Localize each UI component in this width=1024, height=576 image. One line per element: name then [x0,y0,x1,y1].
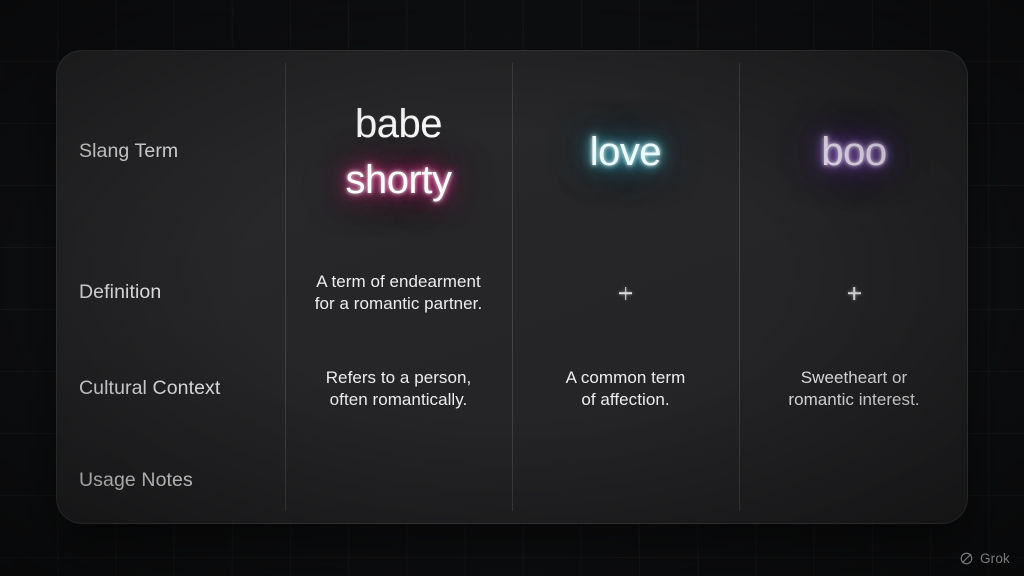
cultural-context-line-1: A common term [566,368,686,387]
cultural-context-cell-column-2: A common term of affection. [512,341,739,437]
definition-line-1: A term of endearment [316,272,480,291]
term-shorty: shorty [346,159,452,201]
row-label-cultural-context: Cultural Context [57,341,285,437]
row-label-usage-notes: Usage Notes [57,437,285,524]
screen-canvas: Slang Term babe shorty love boo Definiti… [0,0,1024,576]
definition-cell-column-3 [739,245,968,341]
cultural-context-text-column-3: Sweetheart or romantic interest. [788,367,919,411]
definition-line-2: for a romantic partner. [315,294,482,313]
usage-notes-cell-column-1 [285,437,512,524]
cultural-context-line-2: of affection. [581,390,669,409]
cultural-context-text-column-2: A common term of affection. [566,367,686,411]
cultural-context-line-2: romantic interest. [788,390,919,409]
cultural-context-line-2: often romantically. [330,390,468,409]
grok-watermark-label: Grok [980,551,1010,566]
usage-notes-cell-column-2 [512,437,739,524]
term-love: love [590,131,661,173]
term-cell-column-3: boo [739,59,968,245]
cultural-context-line-1: Refers to a person, [326,368,472,387]
grok-watermark: Grok [959,551,1010,566]
comparison-card: Slang Term babe shorty love boo Definiti… [56,50,968,524]
cultural-context-cell-column-1: Refers to a person, often romantically. [285,341,512,437]
plus-marker-icon [618,286,633,301]
grok-slashed-circle-icon [959,551,974,566]
plus-marker-icon [847,286,862,301]
cultural-context-cell-column-3: Sweetheart or romantic interest. [739,341,968,437]
cultural-context-text-column-1: Refers to a person, often romantically. [326,367,472,411]
row-label-slang-term: Slang Term [57,59,285,245]
term-cell-column-1: babe shorty [285,59,512,245]
term-cell-column-2: love [512,59,739,245]
definition-cell-column-2 [512,245,739,341]
row-label-definition: Definition [57,245,285,341]
slang-comparison-table: Slang Term babe shorty love boo Definiti… [57,51,967,523]
definition-cell-column-1: A term of endearment for a romantic part… [285,245,512,341]
term-boo: boo [821,131,886,173]
term-babe: babe [355,103,442,145]
definition-text-column-1: A term of endearment for a romantic part… [315,271,482,315]
cultural-context-line-1: Sweetheart or [801,368,908,387]
usage-notes-cell-column-3 [739,437,968,524]
